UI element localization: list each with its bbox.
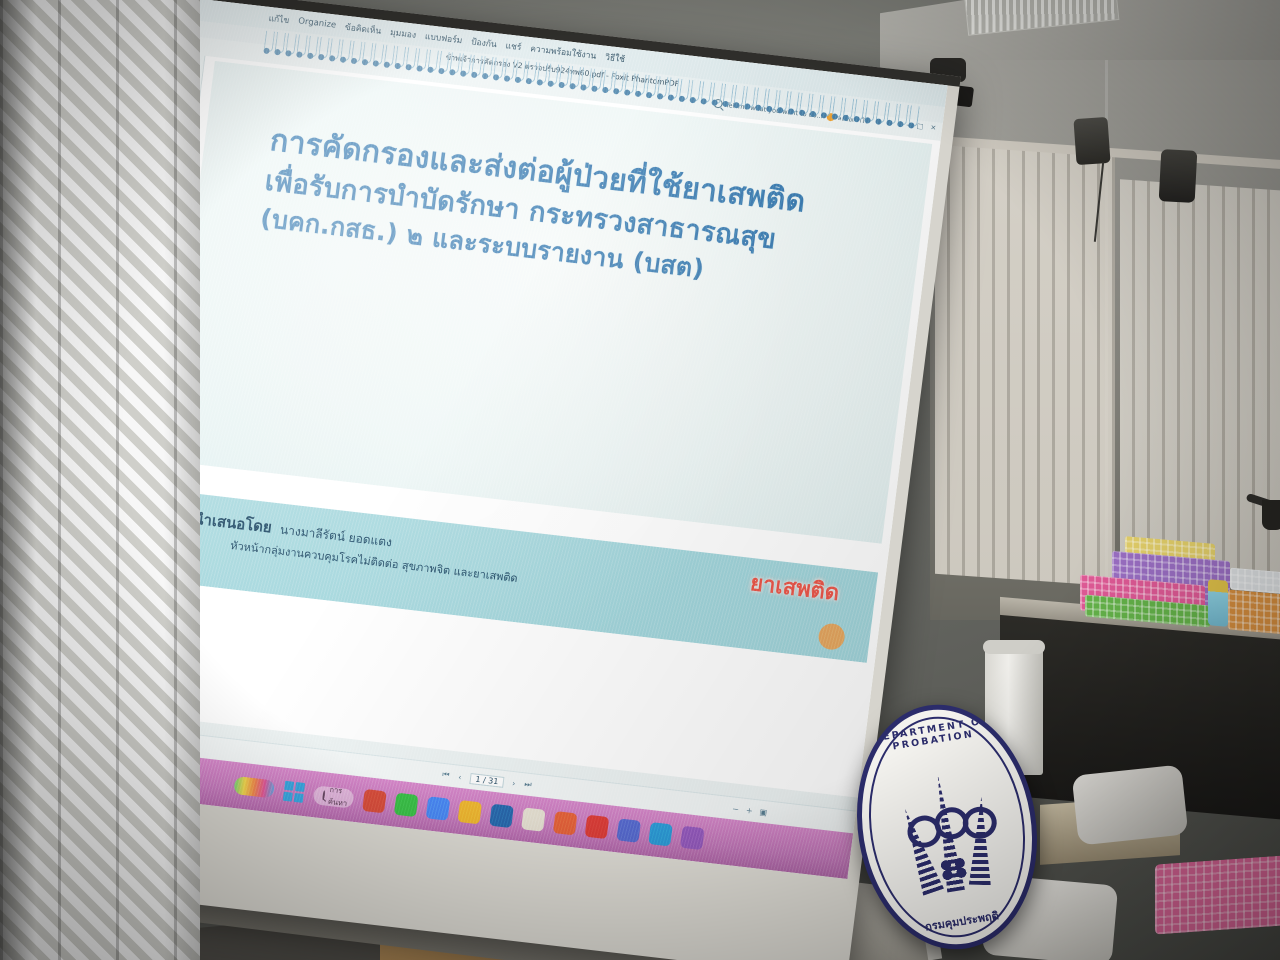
chrome-icon[interactable] (426, 796, 451, 820)
menu-item-edit[interactable]: แก้ไข (268, 11, 290, 27)
menu-item-help[interactable]: วิธีใช้ (604, 50, 626, 66)
logo-oval: DEPARTMENT OF PROBATION กรมคุมประพฤติ (840, 692, 1054, 960)
document-viewport[interactable]: การคัดกรองและส่งต่อผู้ป่วยที่ใช้ยาเสพติด… (123, 56, 941, 798)
window-blinds-left (0, 0, 200, 960)
window-blinds-right-2 (1120, 179, 1280, 591)
wall-speaker-icon (1073, 117, 1110, 165)
orange-box (1228, 589, 1280, 634)
trash-bin-lid (983, 640, 1045, 654)
wall-speaker-2-icon (1159, 149, 1198, 203)
logo-english-text: DEPARTMENT OF PROBATION (848, 711, 1017, 759)
next-page-button[interactable]: › (512, 778, 516, 787)
probation-logo: DEPARTMENT OF PROBATION กรมคุมประพฤติ (840, 692, 1054, 960)
menu-item-organize[interactable]: Organize (298, 16, 337, 30)
close-icon[interactable]: ✕ (930, 124, 937, 133)
emblem-ring-right (960, 804, 999, 841)
photo-scene: แก้ไข Organize ข้อคิดเห็น มุมมอง แบบฟอร์… (0, 0, 1280, 960)
file-explorer-icon[interactable] (457, 800, 482, 824)
presentation-slide: การคัดกรองและส่งต่อผู้ป่วยที่ใช้ยาเสพติด… (133, 61, 932, 789)
start-button[interactable] (283, 781, 305, 803)
logo-emblem-icon (883, 764, 1012, 900)
teams-icon[interactable] (616, 818, 641, 842)
red-app-icon[interactable] (585, 815, 610, 839)
foxit-phantompdf-window: แก้ไข Organize ข้อคิดเห็น มุมมอง แบบฟอร์… (84, 0, 947, 879)
menu-item-protect[interactable]: ป้องกัน (470, 34, 497, 51)
menu-item-form[interactable]: แบบฟอร์ม (424, 29, 463, 47)
emblem-beads (938, 855, 969, 881)
taskbar-search[interactable]: การค้นหา (313, 785, 355, 808)
menu-item-share[interactable]: แชร์ (505, 38, 522, 54)
blue-app-icon[interactable] (648, 822, 673, 846)
screen-surface: แก้ไข Organize ข้อคิดเห็น มุมมอง แบบฟอร์… (84, 0, 947, 879)
phone-icon[interactable] (680, 826, 705, 850)
white-bag (1072, 764, 1189, 845)
page-indicator[interactable]: 1 / 31 (470, 773, 504, 788)
zoom-out-icon[interactable]: − (732, 804, 740, 814)
desk-lamp-head (1262, 500, 1280, 530)
pink-basket-floor (1155, 855, 1280, 934)
last-page-button[interactable]: ⏭ (524, 779, 532, 790)
menu-item-comment[interactable]: ข้อคิดเห็น (344, 20, 382, 38)
outlook-icon[interactable] (489, 804, 514, 828)
water-bottle (1208, 579, 1228, 627)
browser-icon[interactable] (553, 811, 578, 835)
zoom-in-icon[interactable]: + (745, 806, 753, 816)
menu-item-view[interactable]: มุมมอง (389, 25, 417, 42)
previous-page-button[interactable]: ‹ (458, 772, 462, 781)
logo-thai-text: กรมคุมประพฤติ (877, 899, 1046, 943)
fit-page-icon[interactable]: ▣ (759, 808, 768, 818)
first-page-button[interactable]: ⏮ (442, 770, 450, 781)
office-icon[interactable] (362, 789, 387, 813)
rainbow-app-icon[interactable] (233, 776, 275, 798)
window-blinds-right (935, 144, 1115, 587)
whatsapp-icon[interactable] (394, 793, 419, 817)
taskbar-search-placeholder: การค้นหา (327, 784, 349, 810)
search-icon (322, 790, 325, 800)
notes-icon[interactable] (521, 807, 546, 831)
